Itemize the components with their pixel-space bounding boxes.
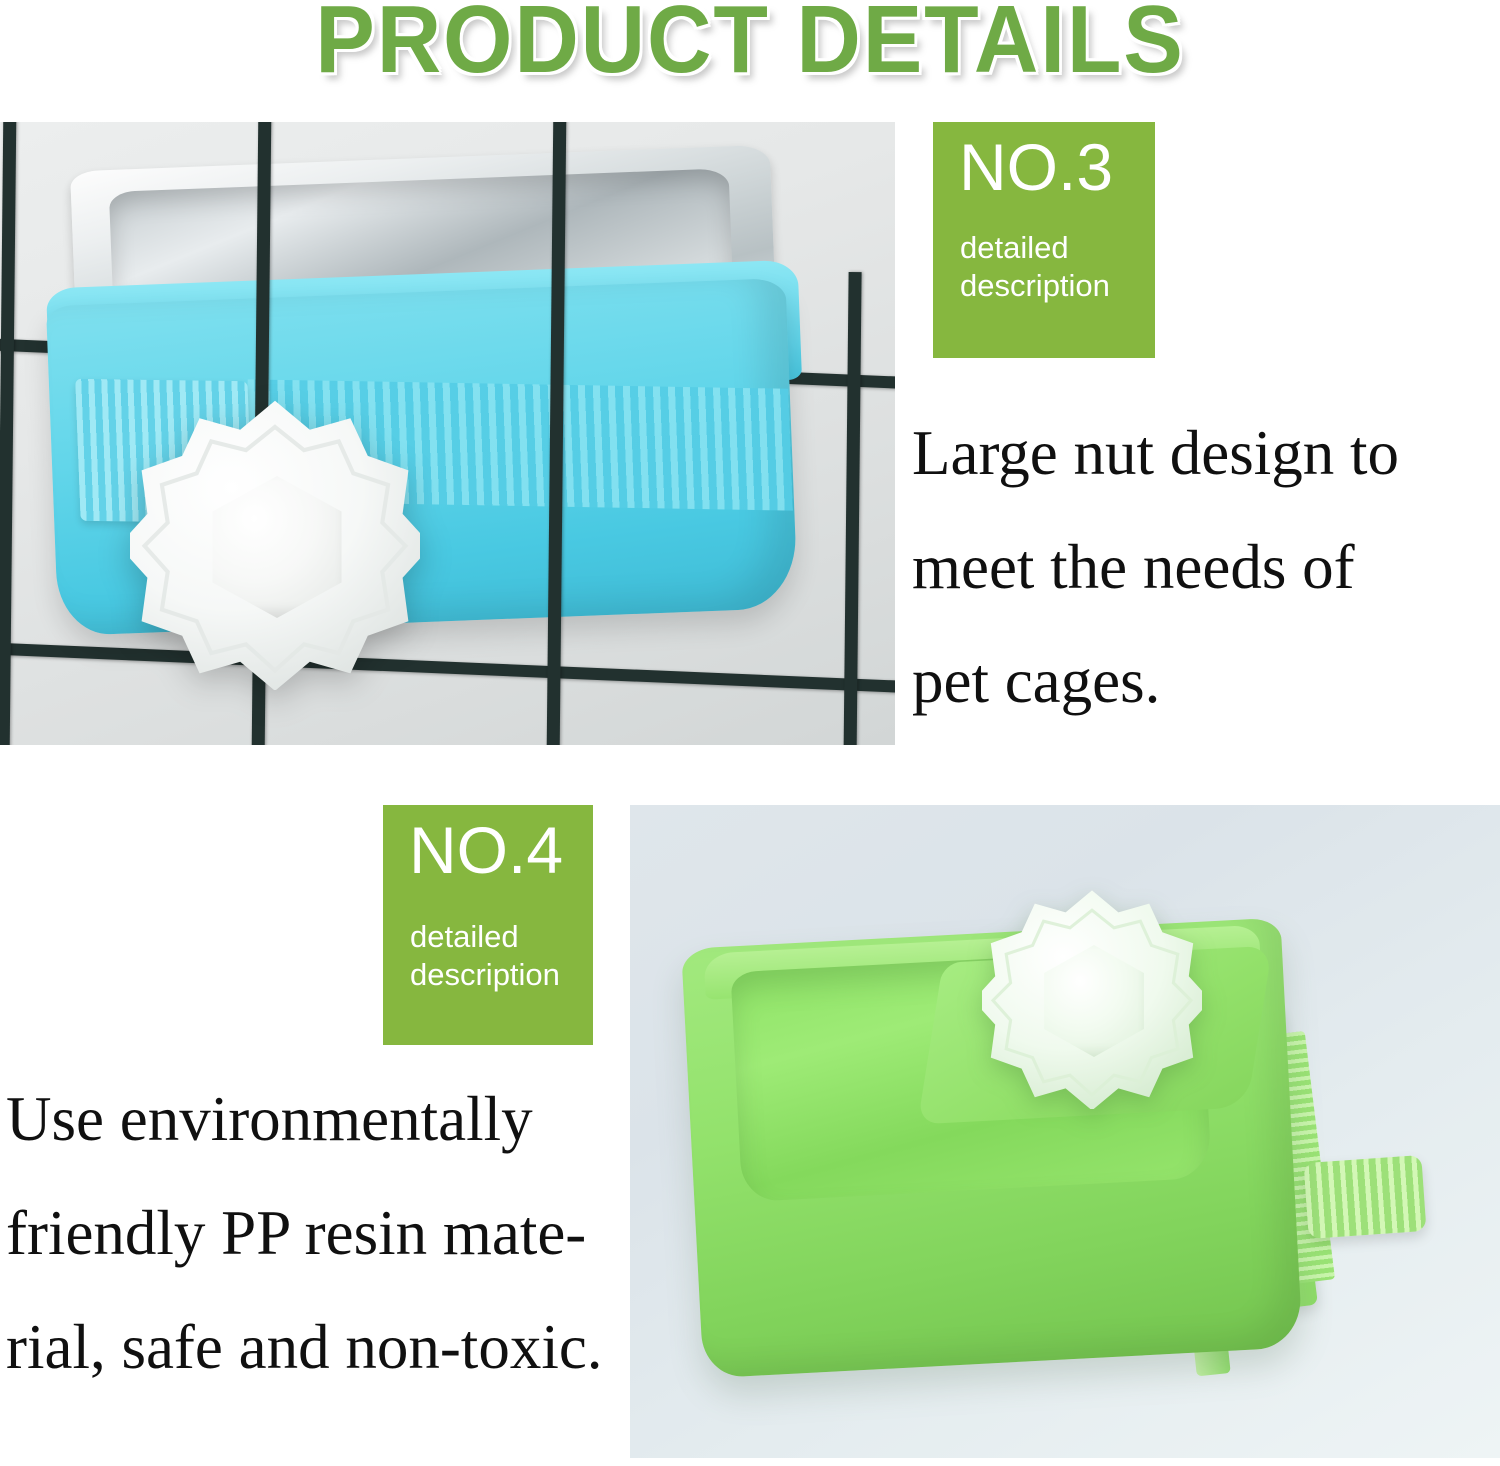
badge-no3: NO.3 detailed description	[933, 122, 1155, 358]
product-photo-green-bowl	[630, 805, 1500, 1458]
badge-no3-number: NO.3	[959, 128, 1113, 206]
badge-no4: NO.4 detailed description	[383, 805, 593, 1045]
page-title: PRODUCT DETAILS	[53, 0, 1448, 96]
description-no3: Large nut design to meet the needs of pe…	[912, 396, 1492, 738]
green-threaded-screw-post	[1303, 1155, 1426, 1239]
badge-no4-desc-line1: detailed	[410, 917, 519, 957]
badge-no3-desc-line1: detailed	[960, 228, 1069, 268]
white-star-nut	[982, 883, 1202, 1109]
badge-no4-number: NO.4	[409, 811, 563, 889]
badge-no3-desc-line2: description	[960, 266, 1110, 306]
product-photo-blue-bowl-on-cage	[0, 122, 895, 745]
badge-no4-desc-line2: description	[410, 955, 560, 995]
cage-wire-vertical	[843, 272, 861, 745]
white-star-nut	[130, 390, 420, 690]
description-no4: Use environmentally friendly PP resin ma…	[6, 1062, 626, 1404]
